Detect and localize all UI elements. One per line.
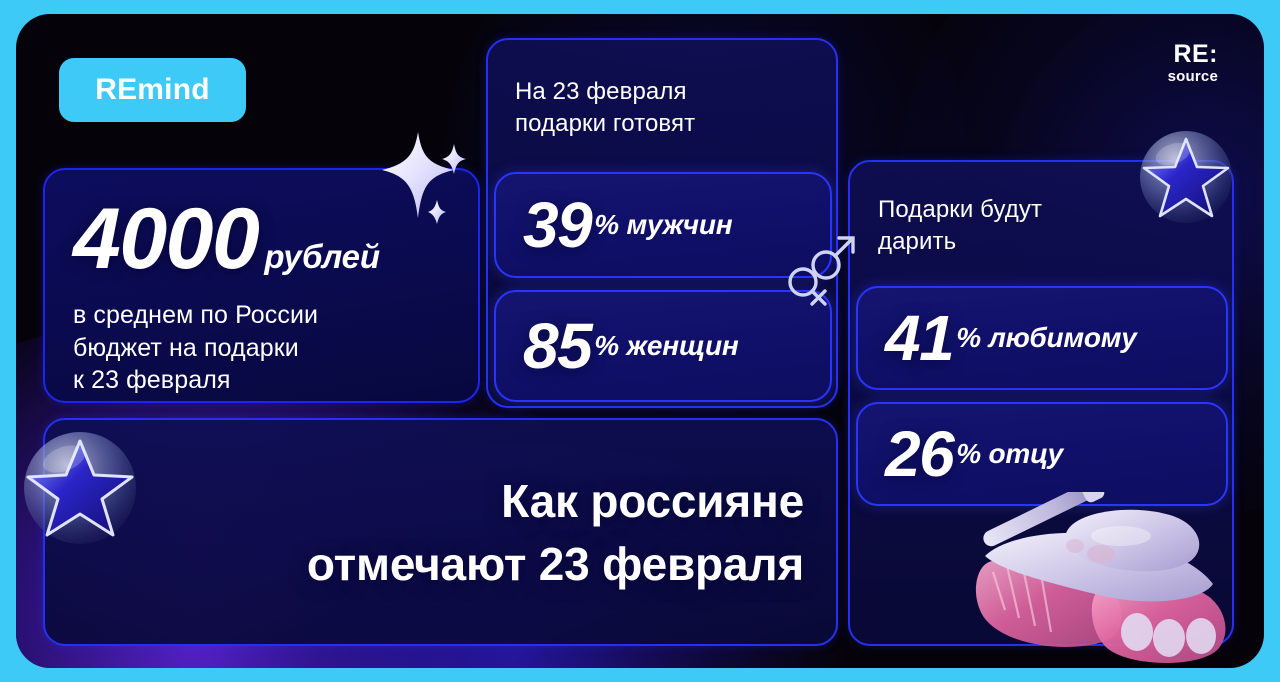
stat-women-value: 85 [523,314,591,378]
stat-partner-unit: % любимому [956,324,1136,352]
stat-men-unit: % мужчин [594,211,732,239]
stat-father-value: 26 [885,422,953,486]
stat-card-partner: 41 % любимому [856,286,1228,390]
stat-women-unit: % женщин [594,332,738,360]
headline-line-1: Как россияне [104,470,804,533]
resource-wordmark[interactable]: RE: source [1168,42,1218,85]
remind-logo-badge[interactable]: REmind [59,58,246,122]
infographic-panel: REmind RE: source 4000 рублей в среднем … [16,14,1264,668]
preparing-card-title: На 23 февраля подарки готовят [515,76,815,140]
recipients-card: Подарки будут дарить 41 % любимому 26 % … [848,160,1234,646]
budget-description: в среднем по России бюджет на подарки к … [73,299,478,397]
headline-text: Как россияне отмечают 23 февраля [104,470,804,597]
budget-unit: рублей [264,240,379,273]
stat-card-men: 39 % мужчин [494,172,832,278]
stat-men-value: 39 [523,193,591,257]
stat-card-father: 26 % отцу [856,402,1228,506]
preparing-card: На 23 февраля подарки готовят 39 % мужчи… [486,38,838,408]
resource-wordmark-source: source [1168,68,1218,85]
stat-card-partner-content: 41 % любимому [858,288,1226,388]
resource-wordmark-re: RE: [1168,42,1218,68]
budget-card: 4000 рублей в среднем по России бюджет н… [43,168,480,403]
budget-description-line-2: бюджет на подарки [73,332,478,365]
stat-father-unit: % отцу [956,440,1063,468]
headline-card: Как россияне отмечают 23 февраля [43,418,838,646]
recipients-card-title: Подарки будут дарить [878,194,1198,258]
headline-line-2: отмечают 23 февраля [104,533,804,596]
stat-card-father-content: 26 % отцу [858,404,1226,504]
budget-description-line-1: в среднем по России [73,299,478,332]
stat-card-women: 85 % женщин [494,290,832,402]
budget-value: 4000 [73,196,258,282]
stat-partner-value: 41 [885,306,953,370]
cyan-frame: REmind RE: source 4000 рублей в среднем … [0,0,1280,682]
preparing-title-line-1: На 23 февраля [515,76,815,108]
remind-logo-label: REmind [95,73,210,107]
stat-card-men-content: 39 % мужчин [496,174,830,276]
budget-description-line-3: к 23 февраля [73,364,478,397]
recipients-title-line-1: Подарки будут [878,194,1198,226]
budget-value-row: 4000 рублей [73,196,478,282]
recipients-title-line-2: дарить [878,226,1198,258]
preparing-title-line-2: подарки готовят [515,108,815,140]
budget-card-content: 4000 рублей в среднем по России бюджет н… [45,170,478,397]
stat-card-women-content: 85 % женщин [496,292,830,400]
